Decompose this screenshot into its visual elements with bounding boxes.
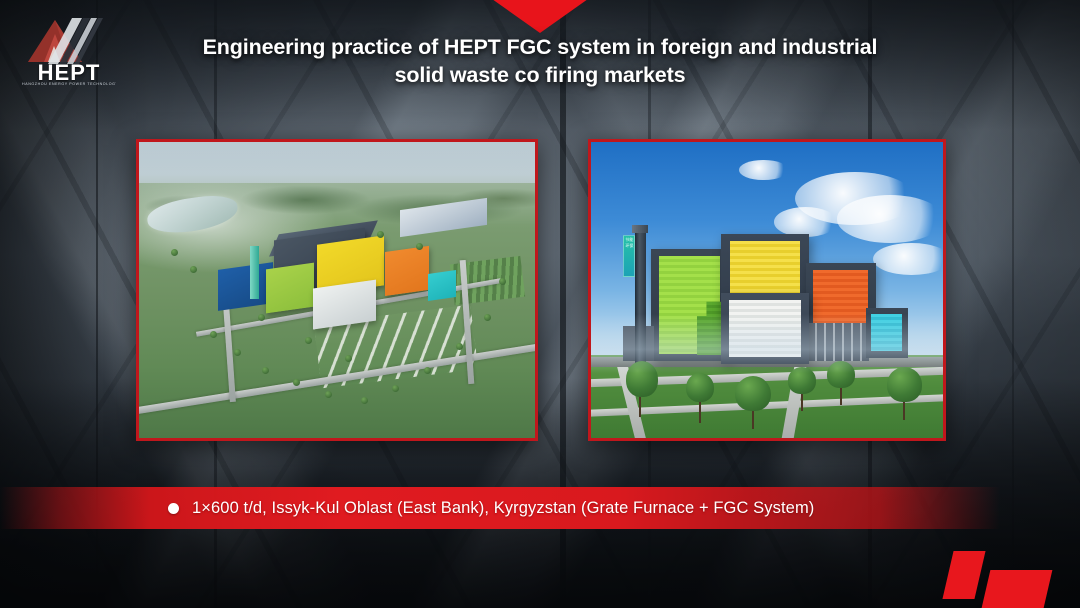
render-tree-trunk	[840, 385, 842, 406]
render-tree-trunk	[699, 400, 701, 424]
aerial-plant-image[interactable]	[136, 139, 538, 441]
caption-text: 1×600 t/d, Issyk-Kul Oblast (East Bank),…	[192, 499, 814, 518]
slide-title-line-1: Engineering practice of HEPT FGC system …	[203, 35, 878, 59]
cloud	[837, 195, 943, 242]
aerial-atmosphere-haze	[139, 142, 535, 438]
aerial-plant-photo	[139, 142, 535, 438]
corner-accent-slash-2	[982, 570, 1053, 608]
mountain-triangle-icon	[22, 16, 116, 66]
render-chimney-sign: 节能环保	[623, 235, 635, 276]
slide-title-line-2: solid waste co firing markets	[395, 63, 686, 87]
hept-logo: HEPT HANGZHOU ENERGY POWER TECHNOLOGY	[22, 16, 116, 90]
slide-title: Engineering practice of HEPT FGC system …	[140, 34, 940, 89]
render-chimney-sign-text: 节能环保	[624, 236, 634, 249]
presentation-slide: HEPT HANGZHOU ENERGY POWER TECHNOLOGY En…	[0, 0, 1080, 608]
logo-wordmark: HEPT	[22, 62, 116, 84]
ground-level-photo: 节能环保	[591, 142, 943, 438]
render-tree	[735, 376, 770, 412]
bullet-icon	[168, 503, 179, 514]
cloud	[774, 207, 837, 237]
render-tree	[686, 373, 714, 403]
logo-subtext: HANGZHOU ENERGY POWER TECHNOLOGY	[22, 82, 116, 86]
caption-row: 1×600 t/d, Issyk-Kul Oblast (East Bank),…	[168, 487, 814, 529]
ground-level-plant-image[interactable]: 节能环保	[588, 139, 946, 441]
render-horizon-haze	[591, 314, 943, 373]
render-chimney-cap	[632, 225, 648, 233]
render-tree-trunk	[801, 391, 803, 412]
cloud	[873, 243, 943, 276]
